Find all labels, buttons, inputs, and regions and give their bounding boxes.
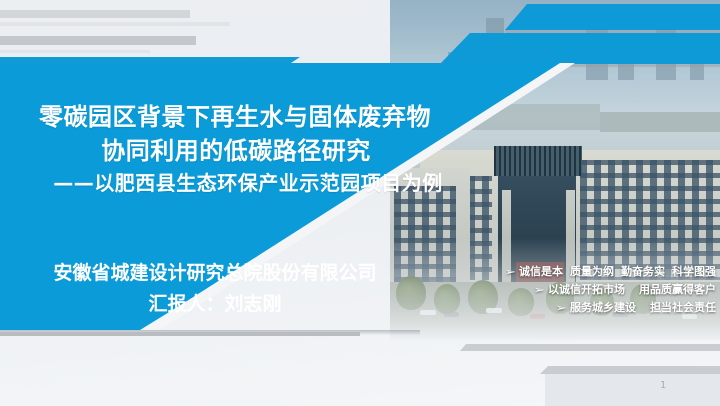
slogan-row: ➢以诚信开拓市场用品质赢得客户 xyxy=(440,281,720,299)
page-number: 1 xyxy=(660,380,666,391)
slogan-text: 勤奋务实 xyxy=(621,265,665,278)
slogan-text: 担当社会责任 xyxy=(650,301,716,314)
speaker-name: 汇报人：刘志刚 xyxy=(0,288,430,320)
decor-bottom-panel xyxy=(545,372,720,406)
decor-gray-rule xyxy=(0,332,360,336)
arrow-icon: ➢ xyxy=(555,300,567,317)
slogan-text: 用品质赢得客户 xyxy=(639,283,716,296)
decor-rule xyxy=(0,22,230,26)
decor-band-middle xyxy=(440,33,720,64)
slogan-text: 诚信是本 xyxy=(519,265,563,278)
decor-rule xyxy=(0,10,190,18)
decor-rule xyxy=(0,36,196,45)
slogan-text: 以诚信开拓市场 xyxy=(548,283,625,296)
title-line-1: 零碳园区背景下再生水与固体废弃物 xyxy=(0,100,478,134)
decor-gray-band xyxy=(460,344,720,351)
company-slogans: ➢诚信是本质量为纲勤奋务实科学图强 ➢以诚信开拓市场用品质赢得客户 ➢服务城乡建… xyxy=(440,263,720,317)
title-subtitle-line: ——以肥西县生态环保产业示范园项目为例 xyxy=(18,168,478,198)
slogan-row: ➢服务城乡建设担当社会责任 xyxy=(440,299,720,317)
arrow-icon: ➢ xyxy=(533,282,545,299)
arrow-icon: ➢ xyxy=(504,264,516,281)
slide-title: 零碳园区背景下再生水与固体废弃物 协同利用的低碳路径研究 ——以肥西县生态环保产… xyxy=(0,100,478,198)
slogan-row: ➢诚信是本质量为纲勤奋务实科学图强 xyxy=(440,263,720,281)
slogan-text: 科学图强 xyxy=(672,265,716,278)
slogan-text: 质量为纲 xyxy=(570,265,614,278)
organization-name: 安徽省城建设计研究总院股份有限公司 xyxy=(0,258,430,288)
slogan-text: 服务城乡建设 xyxy=(570,301,636,314)
decor-band-top xyxy=(505,4,720,30)
decor-gray-band xyxy=(540,366,720,374)
decor-rule xyxy=(0,50,150,53)
presenter-block: 安徽省城建设计研究总院股份有限公司 汇报人：刘志刚 xyxy=(0,258,430,320)
decor-band-shadow xyxy=(505,30,720,33)
presentation-slide: 零碳园区背景下再生水与固体废弃物 协同利用的低碳路径研究 ——以肥西县生态环保产… xyxy=(0,0,720,406)
title-line-2: 协同利用的低碳路径研究 xyxy=(0,134,478,168)
